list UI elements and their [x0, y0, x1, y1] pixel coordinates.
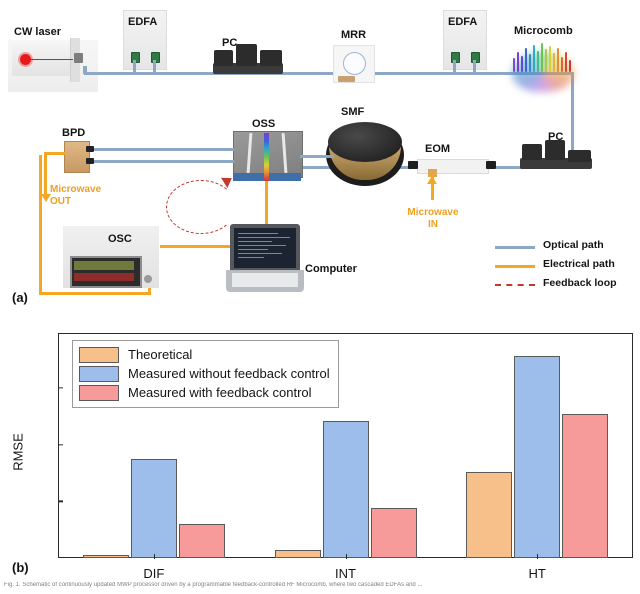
- label-pc-bottom: PC: [548, 131, 563, 143]
- label-microwave-in-line2: IN: [428, 219, 438, 230]
- bpd-pin-upper: [86, 146, 94, 152]
- chart-y-tick-mark: [58, 444, 63, 445]
- comb-line: [521, 56, 523, 72]
- pc-bottom-paddle-2: [545, 140, 565, 160]
- chart-y-tick-mark: [58, 388, 63, 389]
- schematic-panel: CW laser EDFA PC MRR EDFA: [0, 0, 640, 320]
- figure-caption: Fig. 1. Schematic of continuously update…: [4, 582, 636, 588]
- optical-path-top-main: [84, 72, 574, 75]
- label-mrr: MRR: [341, 29, 366, 41]
- chart-bar: [179, 524, 225, 558]
- smf-spool-top: [328, 122, 402, 162]
- pc-bottom-paddle-3: [568, 150, 591, 162]
- chart-x-tick-label: DIF: [143, 566, 164, 581]
- comb-line: [537, 51, 539, 72]
- label-computer: Computer: [305, 263, 357, 275]
- comb-line: [525, 48, 527, 72]
- edfa-2-pigtail-left: [453, 60, 456, 73]
- comb-line: [565, 52, 567, 72]
- chart-bar: [323, 421, 369, 558]
- optical-path-swatch: [495, 246, 535, 249]
- comb-line: [569, 60, 571, 72]
- label-bpd: BPD: [62, 127, 85, 139]
- comb-line: [553, 53, 555, 72]
- chart-bar: [83, 555, 129, 558]
- computer-screen-text-line: [238, 241, 272, 242]
- pc-bottom-paddle-1: [522, 144, 542, 160]
- label-edfa-2: EDFA: [448, 16, 477, 28]
- comb-line: [529, 54, 531, 72]
- comb-line: [557, 48, 559, 72]
- microwave-in-arrow-icon: [427, 176, 437, 184]
- osc-knob[interactable]: [144, 275, 152, 283]
- electrical-path-bpd-pigtail: [44, 152, 66, 155]
- edfa-2-pigtail-right: [473, 60, 476, 73]
- chart-y-axis-label: RMSE: [11, 433, 26, 471]
- comb-line: [541, 43, 543, 72]
- edfa-1-pigtail-left: [133, 60, 136, 73]
- chart-legend-row: Measured without feedback control: [79, 364, 330, 383]
- osc-screen: [70, 256, 142, 288]
- chart-x-tick-mark: [346, 554, 347, 559]
- mrr-mount-tab: [338, 76, 355, 82]
- computer-screen-text-line: [238, 253, 282, 254]
- pc-top-paddle-2: [236, 44, 257, 66]
- label-microwave-in: Microwave IN: [403, 207, 463, 231]
- computer-screen: [234, 228, 296, 268]
- panel-a-tag: (a): [12, 290, 28, 305]
- chart-x-tick-label: HT: [528, 566, 545, 581]
- legend-label-electrical: Electrical path: [543, 258, 615, 270]
- optical-path-oss-to-bpd-upper: [86, 148, 234, 151]
- legend-label-with-feedback: Measured with feedback control: [128, 385, 312, 400]
- edfa-1-pigtail-right: [153, 60, 156, 73]
- chart-bar: [275, 550, 321, 558]
- legend-label-optical: Optical path: [543, 239, 604, 251]
- optical-path-oss-to-bpd-lower: [86, 160, 234, 163]
- feedback-loop-arc: [166, 180, 236, 234]
- computer-screen-text-line: [238, 257, 264, 258]
- comb-line: [549, 46, 551, 72]
- label-microwave-out-line2: OUT: [50, 196, 71, 207]
- schematic-legend: Optical path Electrical path Feedback lo…: [495, 238, 635, 295]
- comb-line: [561, 57, 563, 72]
- electrical-path-bottom-to-osc: [39, 292, 151, 295]
- legend-label-theoretical: Theoretical: [128, 347, 192, 362]
- label-eom: EOM: [425, 143, 450, 155]
- legend-swatch-without-feedback: [79, 366, 119, 382]
- comb-line: [533, 45, 535, 72]
- chart-x-tick-mark: [154, 554, 155, 559]
- oss-spectrum-strip: [264, 133, 269, 181]
- legend-swatch-theoretical: [79, 347, 119, 363]
- microcomb-spectrum: [513, 43, 571, 72]
- electrical-path-microwave-out: [44, 152, 47, 196]
- chart-x-tick-mark: [537, 554, 538, 559]
- label-cw-laser: CW laser: [14, 26, 61, 38]
- computer-screen-text-line: [238, 245, 286, 246]
- laser-beam-line: [31, 59, 73, 60]
- legend-row-electrical: Electrical path: [495, 257, 635, 276]
- computer-screen-text-line: [238, 237, 290, 238]
- legend-row-optical: Optical path: [495, 238, 635, 257]
- label-smf: SMF: [341, 106, 364, 118]
- chart-y-tick-mark: [58, 501, 63, 502]
- label-microwave-out: Microwave OUT: [50, 184, 101, 208]
- bpd-pin-lower: [86, 158, 94, 164]
- computer-screen-text-line: [238, 249, 268, 250]
- eom-connector-right: [486, 161, 496, 169]
- label-microwave-out-line1: Microwave: [50, 184, 101, 195]
- legend-label-feedback: Feedback loop: [543, 277, 617, 289]
- legend-swatch-with-feedback: [79, 385, 119, 401]
- chart-bar: [514, 356, 560, 558]
- label-osc: OSC: [108, 233, 132, 245]
- chart-bar: [131, 459, 177, 558]
- laser-beam-spot-icon: [20, 54, 31, 65]
- chart-x-tick-label: INT: [335, 566, 356, 581]
- pc-top-paddle-3: [260, 50, 282, 66]
- legend-row-feedback: Feedback loop: [495, 276, 635, 295]
- chart-legend-row: Measured with feedback control: [79, 383, 330, 402]
- legend-label-without-feedback: Measured without feedback control: [128, 366, 330, 381]
- panel-b-tag: (b): [12, 560, 29, 575]
- electrical-path-swatch: [495, 265, 535, 268]
- chart-bar: [562, 414, 608, 558]
- optical-path-oss-to-smf: [300, 155, 334, 158]
- pc-top-paddle-1: [214, 50, 233, 66]
- label-pc-top: PC: [222, 37, 237, 49]
- computer-keyboard[interactable]: [232, 273, 298, 287]
- comb-line: [513, 58, 515, 72]
- osc-trace-green: [74, 261, 134, 270]
- label-microwave-in-line1: Microwave: [407, 207, 458, 218]
- label-edfa-1: EDFA: [128, 16, 157, 28]
- comb-line: [517, 52, 519, 72]
- label-microcomb: Microcomb: [514, 25, 573, 37]
- chart-legend-row: Theoretical: [79, 345, 330, 364]
- comb-line: [545, 49, 547, 72]
- electrical-path-left-down: [39, 155, 42, 294]
- laser-fiber-connector: [74, 53, 83, 63]
- feedback-loop-swatch: [495, 284, 535, 286]
- chart-bar: [371, 508, 417, 558]
- osc-trace-red: [74, 273, 134, 281]
- electrical-path-osc-to-computer: [160, 245, 230, 248]
- computer-screen-text-line: [238, 233, 278, 234]
- electrical-path-oss-to-computer: [265, 181, 268, 226]
- eom-connector-left: [408, 161, 418, 169]
- mrr-ring-resonator-icon: [343, 52, 366, 75]
- chart-legend: Theoretical Measured without feedback co…: [72, 340, 339, 408]
- label-oss: OSS: [252, 118, 275, 130]
- chart-bar: [466, 472, 512, 558]
